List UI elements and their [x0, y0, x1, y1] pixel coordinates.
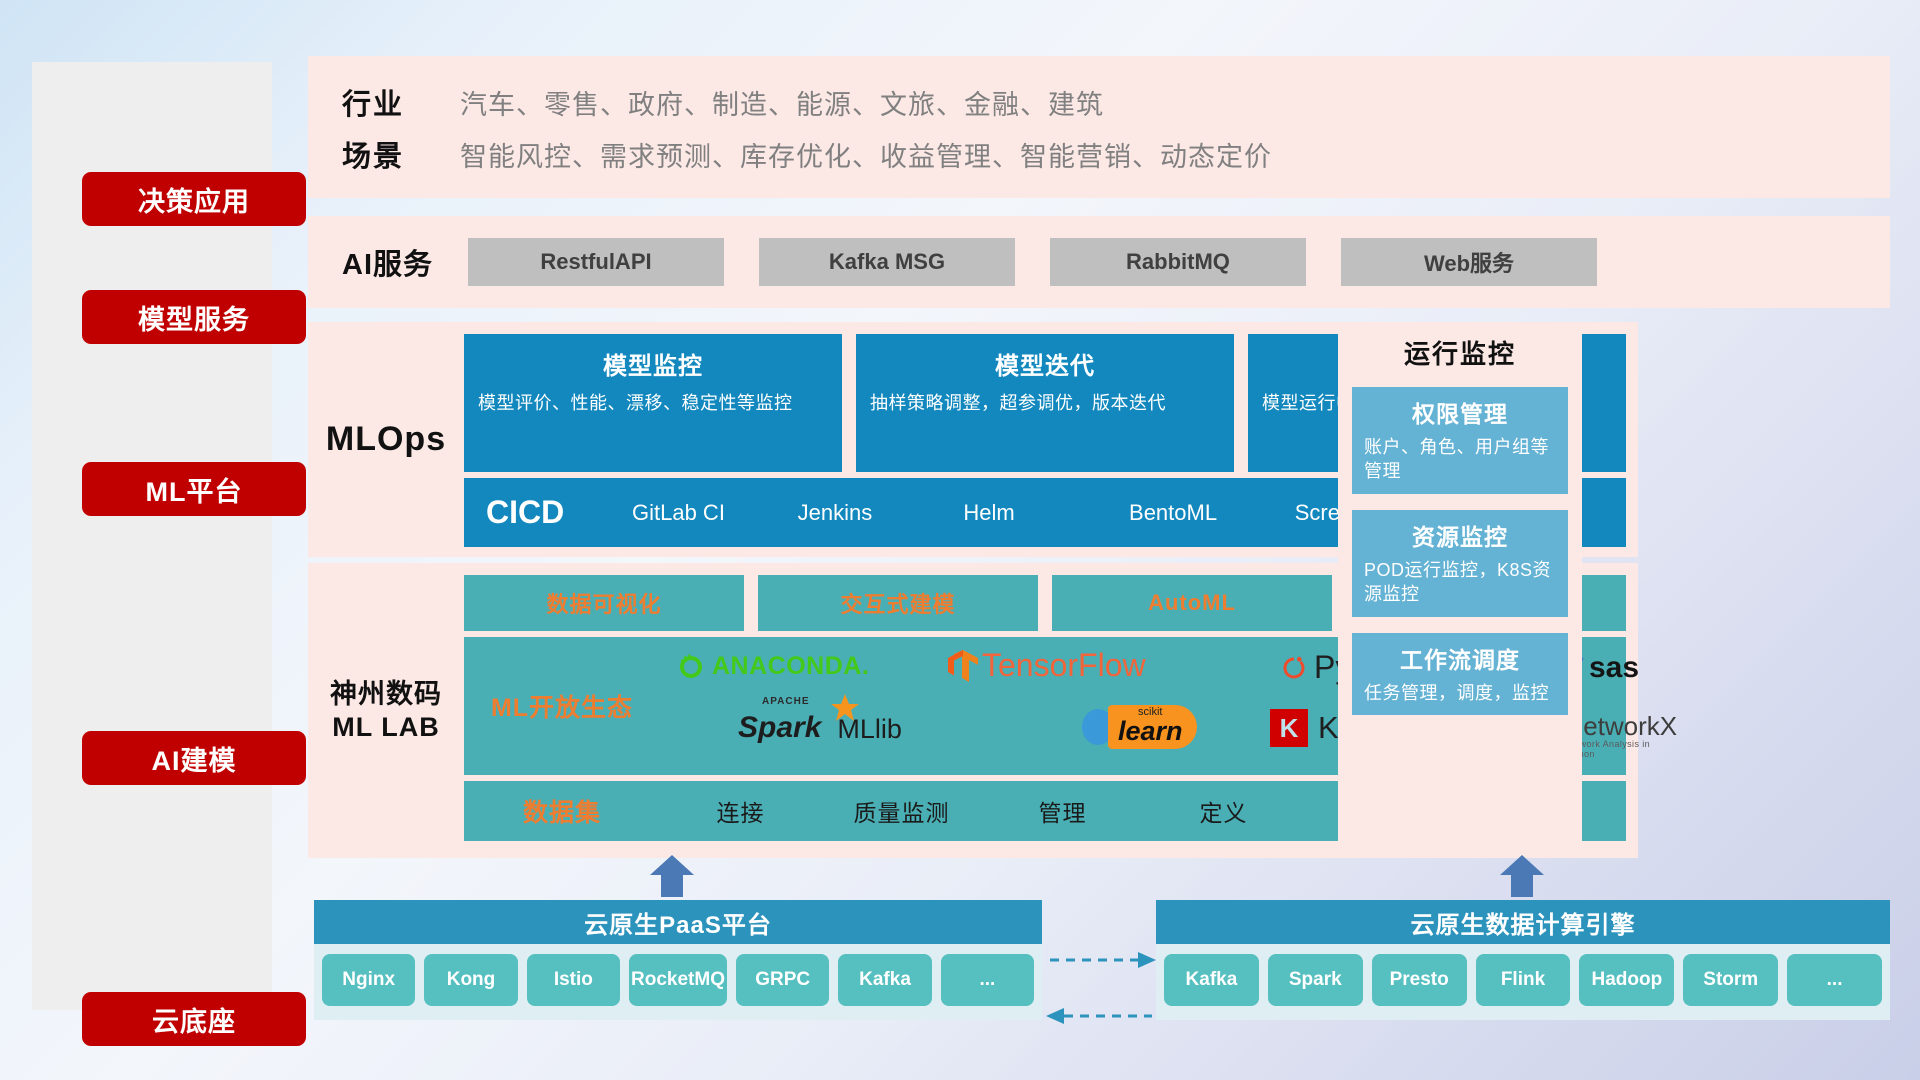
- cloud-native-data-engine-block: 云原生数据计算引擎 Kafka Spark Presto Flink Hadoo…: [1156, 900, 1890, 1020]
- card-desc: 账户、角色、用户组等管理: [1364, 435, 1556, 484]
- arrow-head-right-icon: [1138, 952, 1156, 968]
- scenario-values: 智能风控、需求预测、库存优化、收益管理、智能营销、动态定价: [460, 135, 1272, 174]
- anaconda-mark-icon: [676, 651, 706, 681]
- sas-wordmark: sas: [1589, 651, 1639, 685]
- data-chip-kafka[interactable]: Kafka: [1164, 954, 1259, 1006]
- card-desc: POD运行监控，K8S资源监控: [1364, 558, 1556, 607]
- arrow-head-left-icon: [1046, 1008, 1064, 1024]
- dataset-item-define[interactable]: 定义: [1143, 794, 1304, 828]
- cloud-chip-grpc[interactable]: GRPC: [736, 954, 829, 1006]
- scenario-label: 场景: [342, 133, 460, 175]
- architecture-diagram: 决策应用 模型服务 ML平台 AI建模 云底座 行业 汽车、零售、政府、制造、能…: [0, 0, 1920, 1080]
- ml-lab-label: 神州数码 ML LAB: [308, 563, 464, 858]
- cicd-item-helm[interactable]: Helm: [963, 501, 1129, 524]
- rail-item-ai-modeling[interactable]: AI建模: [82, 731, 306, 785]
- industry-scenario-band: 行业 汽车、零售、政府、制造、能源、文旅、金融、建筑 场景 智能风控、需求预测、…: [308, 56, 1890, 198]
- data-chip-storm[interactable]: Storm: [1683, 954, 1778, 1006]
- cicd-item-jenkins[interactable]: Jenkins: [798, 501, 964, 524]
- data-chip-presto[interactable]: Presto: [1372, 954, 1467, 1006]
- cloud-data-engine-chip-list: Kafka Spark Presto Flink Hadoop Storm ..…: [1156, 944, 1890, 1020]
- dataset-item-connect[interactable]: 连接: [660, 794, 821, 828]
- cloud-chip-kong[interactable]: Kong: [424, 954, 517, 1006]
- ai-service-tile-rabbitmq[interactable]: RabbitMQ: [1050, 238, 1306, 286]
- card-title: 资源监控: [1364, 518, 1556, 552]
- cloud-data-engine-title: 云原生数据计算引擎: [1156, 900, 1890, 944]
- spark-wordmark: Spark: [738, 711, 821, 745]
- rail-item-label: 云底座: [152, 1000, 236, 1039]
- keras-mark-icon: K: [1270, 709, 1308, 747]
- tile-label: RestfulAPI: [540, 249, 651, 275]
- cloud-chip-istio[interactable]: Istio: [527, 954, 620, 1006]
- up-arrow-to-paas-icon: [650, 855, 694, 897]
- ml-lab-tab-automl[interactable]: AutoML: [1052, 575, 1332, 631]
- keras-k-letter: K: [1280, 713, 1299, 744]
- industry-row: 行业 汽车、零售、政府、制造、能源、文旅、金融、建筑: [342, 76, 1890, 128]
- up-arrow-to-data-engine-icon: [1500, 855, 1544, 897]
- rail-item-cloud-base[interactable]: 云底座: [82, 992, 306, 1046]
- cloud-native-paas-block: 云原生PaaS平台 Nginx Kong Istio RocketMQ GRPC…: [314, 900, 1042, 1020]
- dataset-item-manage[interactable]: 管理: [982, 794, 1143, 828]
- monitor-card-resource[interactable]: 资源监控 POD运行监控，K8S资源监控: [1352, 510, 1568, 617]
- mlops-card-model-iteration[interactable]: 模型迭代 抽样策略调整，超参调优，版本迭代: [856, 334, 1234, 472]
- rail-item-label: AI建模: [152, 739, 237, 778]
- dataset-item-quality-monitoring[interactable]: 质量监测: [821, 794, 982, 828]
- spark-apache-text: APACHE: [762, 696, 809, 707]
- mlops-label: MLOps: [308, 322, 464, 557]
- ml-lab-tab-interactive-modeling[interactable]: 交互式建模: [758, 575, 1038, 631]
- data-chip-flink[interactable]: Flink: [1476, 954, 1571, 1006]
- cicd-item-gitlab-ci[interactable]: GitLab CI: [632, 501, 798, 524]
- layer-rail: 决策应用 模型服务 ML平台 AI建模 云底座: [32, 62, 272, 1010]
- ml-lab-label-line1: 神州数码: [330, 678, 442, 711]
- tile-label: RabbitMQ: [1126, 249, 1230, 275]
- spark-star-icon: [830, 693, 860, 723]
- runtime-monitor-title: 运行监控: [1352, 334, 1568, 371]
- tensorflow-wordmark: TensorFlow: [982, 647, 1146, 684]
- card-title: 工作流调度: [1364, 641, 1556, 675]
- cloud-chip-more[interactable]: ...: [941, 954, 1034, 1006]
- anaconda-wordmark: ANACONDA.: [712, 652, 869, 681]
- ai-service-label: AI服务: [342, 241, 460, 283]
- ai-service-tiles: RestfulAPI Kafka MSG RabbitMQ Web服务: [468, 238, 1597, 286]
- pytorch-mark-icon: [1280, 653, 1308, 683]
- scikit-orange-blob: scikit learn: [1108, 705, 1197, 749]
- ai-service-tile-restfulapi[interactable]: RestfulAPI: [468, 238, 724, 286]
- rail-item-label: 模型服务: [138, 298, 250, 337]
- tensorflow-mark-icon: [946, 648, 980, 684]
- ai-service-tile-web-service[interactable]: Web服务: [1341, 238, 1597, 286]
- learn-text: learn: [1118, 718, 1183, 745]
- rail-item-label: 决策应用: [138, 180, 250, 219]
- ai-service-tile-kafka-msg[interactable]: Kafka MSG: [759, 238, 1015, 286]
- spark-mllib-logo: APACHE Spark MLlib: [738, 711, 902, 745]
- cloud-paas-title: 云原生PaaS平台: [314, 900, 1042, 944]
- rail-item-ml-platform[interactable]: ML平台: [82, 462, 306, 516]
- tile-label: Kafka MSG: [829, 249, 945, 275]
- cloud-chip-nginx[interactable]: Nginx: [322, 954, 415, 1006]
- data-chip-hadoop[interactable]: Hadoop: [1579, 954, 1674, 1006]
- card-title: 模型迭代: [870, 346, 1220, 381]
- cloud-chip-rocketmq[interactable]: RocketMQ: [629, 954, 727, 1006]
- card-desc: 模型评价、性能、漂移、稳定性等监控: [478, 391, 828, 416]
- rail-item-model-service[interactable]: 模型服务: [82, 290, 306, 344]
- data-chip-more[interactable]: ...: [1787, 954, 1882, 1006]
- card-desc: 任务管理，调度，监控: [1364, 681, 1556, 705]
- tensorflow-logo: TensorFlow: [946, 647, 1146, 684]
- industry-label: 行业: [342, 81, 460, 123]
- ml-open-ecosystem-label: ML开放生态: [464, 688, 660, 724]
- cloud-paas-chip-list: Nginx Kong Istio RocketMQ GRPC Kafka ...: [314, 944, 1042, 1020]
- runtime-monitor-panel: 运行监控 权限管理 账户、角色、用户组等管理 资源监控 POD运行监控，K8S资…: [1338, 322, 1582, 858]
- data-chip-spark[interactable]: Spark: [1268, 954, 1363, 1006]
- card-desc: 抽样策略调整，超参调优，版本迭代: [870, 391, 1220, 416]
- ai-service-band: AI服务 RestfulAPI Kafka MSG RabbitMQ Web服务: [308, 216, 1890, 308]
- ml-lab-label-line2: ML LAB: [332, 711, 440, 744]
- cloud-chip-kafka[interactable]: Kafka: [838, 954, 931, 1006]
- paas-data-engine-connector: [1046, 942, 1156, 1034]
- scenario-row: 场景 智能风控、需求预测、库存优化、收益管理、智能营销、动态定价: [342, 128, 1890, 180]
- anaconda-logo: ANACONDA.: [676, 651, 869, 681]
- rail-item-label: ML平台: [146, 470, 243, 509]
- card-title: 权限管理: [1364, 395, 1556, 429]
- rail-item-decision-app[interactable]: 决策应用: [82, 172, 306, 226]
- ml-lab-tab-data-visualization[interactable]: 数据可视化: [464, 575, 744, 631]
- scikit-learn-logo: scikit learn: [1080, 705, 1197, 749]
- cicd-label: CICD: [486, 494, 632, 531]
- monitor-card-permission[interactable]: 权限管理 账户、角色、用户组等管理: [1352, 387, 1568, 494]
- dataset-label: 数据集: [464, 793, 660, 829]
- mlops-card-model-monitoring[interactable]: 模型监控 模型评价、性能、漂移、稳定性等监控: [464, 334, 842, 472]
- industry-values: 汽车、零售、政府、制造、能源、文旅、金融、建筑: [460, 83, 1104, 122]
- cicd-item-bentoml[interactable]: BentoML: [1129, 501, 1295, 524]
- tile-label: Web服务: [1424, 246, 1514, 278]
- card-title: 模型监控: [478, 346, 828, 381]
- monitor-card-workflow[interactable]: 工作流调度 任务管理，调度，监控: [1352, 633, 1568, 715]
